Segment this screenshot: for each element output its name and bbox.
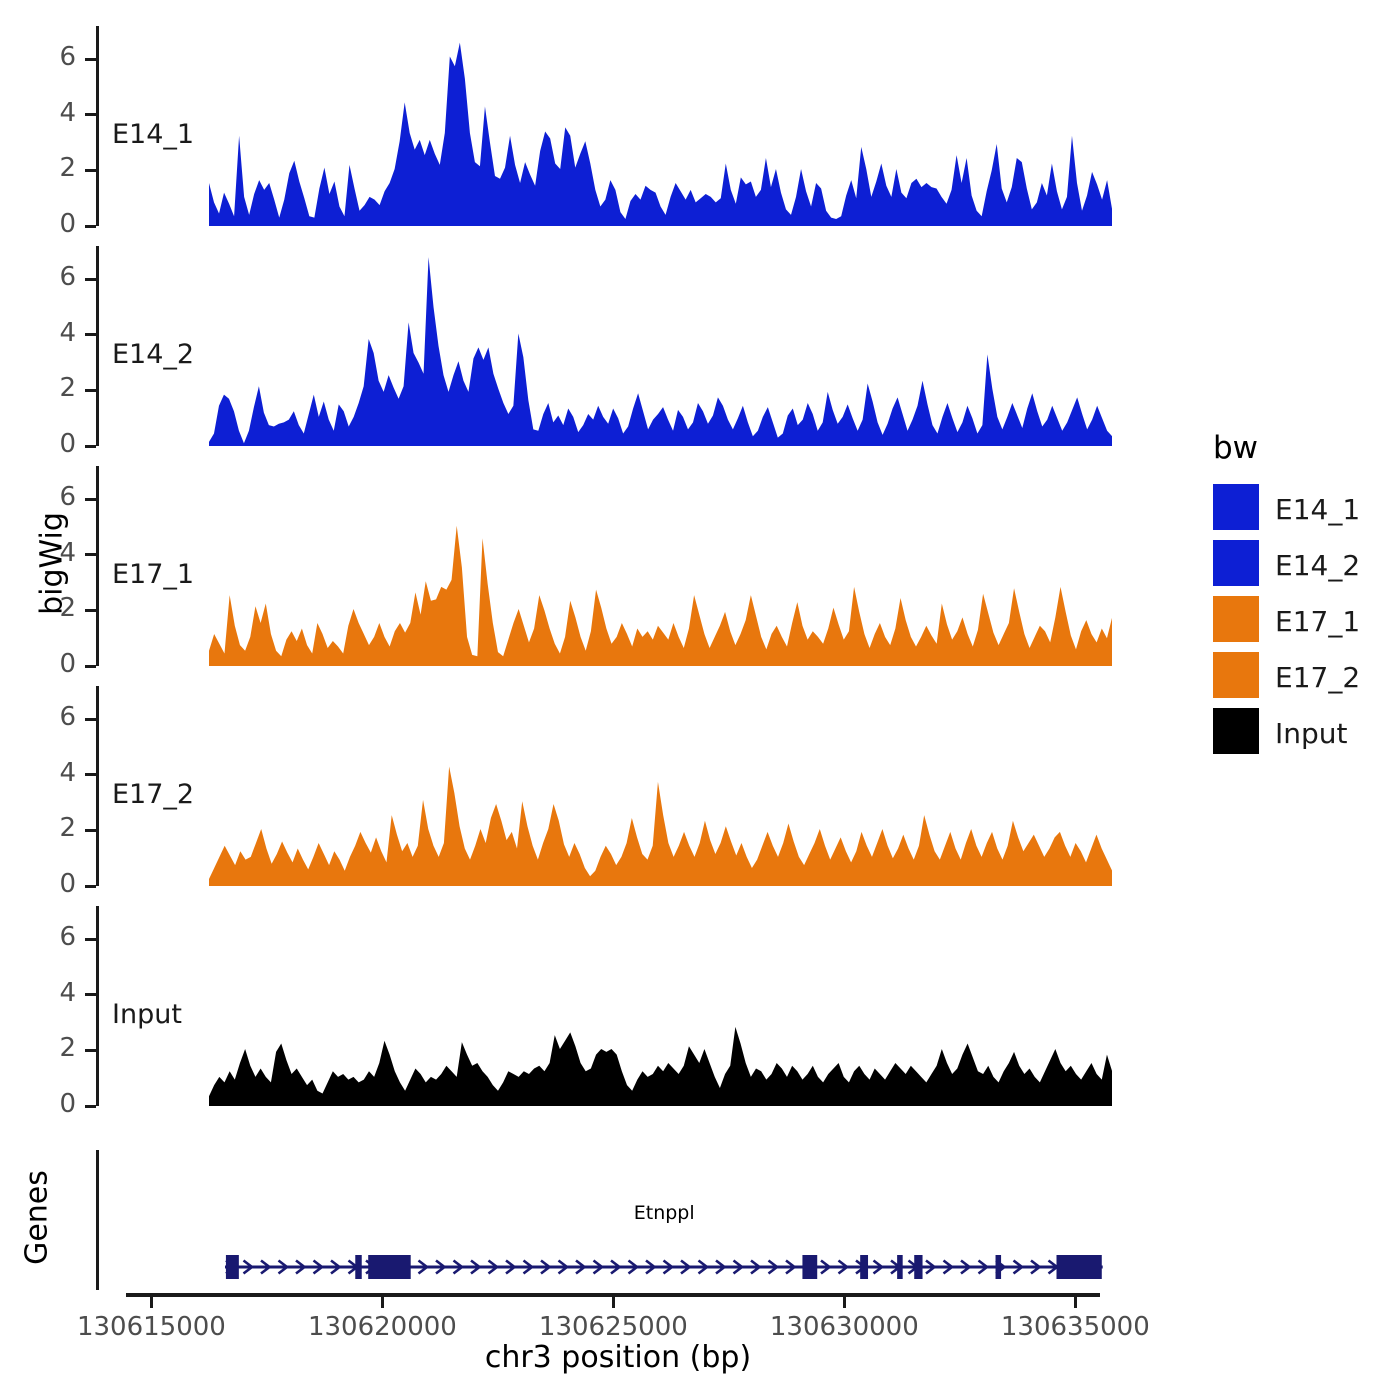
y-tick: [85, 113, 96, 116]
y-tick: [85, 1049, 96, 1052]
legend-label-e14_2: E14_2: [1275, 549, 1360, 582]
y-tick: [85, 445, 96, 448]
legend-swatch-e14_1[interactable]: [1213, 484, 1259, 530]
y-tick: [85, 938, 96, 941]
y-tick: [85, 169, 96, 172]
panel-y-axis-line: [96, 686, 99, 886]
y-tick: [85, 553, 96, 556]
genes-axis-title: Genes: [20, 1143, 55, 1293]
x-tick: [150, 1297, 153, 1308]
y-tick: [85, 993, 96, 996]
x-tick: [843, 1297, 846, 1308]
x-tick: [381, 1297, 384, 1308]
y-tick: [85, 665, 96, 668]
y-tick-label: 0: [6, 429, 76, 459]
gene-panel-axis-line: [96, 1150, 99, 1290]
y-tick-label: 0: [6, 869, 76, 899]
x-tick-label: 130630000: [734, 1312, 954, 1342]
legend-swatch-e17_1[interactable]: [1213, 596, 1259, 642]
y-tick-label: 4: [6, 538, 76, 568]
x-tick-label: 130620000: [272, 1312, 492, 1342]
panel-y-axis-line: [96, 906, 99, 1106]
x-tick: [1074, 1297, 1077, 1308]
y-tick: [85, 609, 96, 612]
track-label-input: Input: [112, 999, 182, 1030]
legend-label-e17_1: E17_1: [1275, 605, 1360, 638]
y-tick: [85, 58, 96, 61]
legend-label-e17_2: E17_2: [1275, 661, 1360, 694]
y-tick-label: 4: [6, 978, 76, 1008]
gene-name-label: Etnppl: [544, 1202, 784, 1224]
x-tick-label: 130615000: [41, 1312, 261, 1342]
y-tick: [85, 885, 96, 888]
coverage-area-e17_1: [209, 466, 1112, 666]
legend-swatch-e14_2[interactable]: [1213, 540, 1259, 586]
x-tick: [612, 1297, 615, 1308]
coverage-area-input: [209, 906, 1112, 1106]
track-label-e14_2: E14_2: [112, 339, 194, 370]
x-tick-label: 130635000: [965, 1312, 1185, 1342]
y-tick: [85, 333, 96, 336]
coverage-area-e14_2: [209, 246, 1112, 446]
y-tick-label: 4: [6, 318, 76, 348]
y-tick-label: 6: [6, 482, 76, 512]
y-tick-label: 0: [6, 209, 76, 239]
y-tick-label: 4: [6, 758, 76, 788]
legend-title: bw: [1213, 430, 1258, 466]
gene-model-etnppl[interactable]: [218, 1250, 1110, 1284]
y-tick-label: 2: [6, 813, 76, 843]
panel-y-axis-line: [96, 246, 99, 446]
panel-y-axis-line: [96, 26, 99, 226]
y-tick: [85, 718, 96, 721]
coverage-area-e14_1: [209, 26, 1112, 226]
track-label-e14_1: E14_1: [112, 119, 194, 150]
panel-y-axis-line: [96, 466, 99, 666]
y-tick-label: 2: [6, 153, 76, 183]
y-tick: [85, 1105, 96, 1108]
legend-swatch-e17_2[interactable]: [1213, 652, 1259, 698]
coverage-area-e17_2: [209, 686, 1112, 886]
y-tick-label: 0: [6, 649, 76, 679]
legend-label-e14_1: E14_1: [1275, 493, 1360, 526]
y-tick: [85, 773, 96, 776]
y-tick-label: 6: [6, 42, 76, 72]
y-tick: [85, 225, 96, 228]
legend-swatch-input[interactable]: [1213, 708, 1259, 754]
x-axis-title: chr3 position (bp): [96, 1340, 1140, 1375]
y-tick-label: 6: [6, 262, 76, 292]
y-tick-label: 4: [6, 98, 76, 128]
y-tick: [85, 829, 96, 832]
y-tick-label: 6: [6, 922, 76, 952]
y-tick-label: 2: [6, 1033, 76, 1063]
legend-label-input: Input: [1275, 717, 1348, 750]
y-tick-label: 0: [6, 1089, 76, 1119]
y-tick: [85, 498, 96, 501]
y-tick-label: 2: [6, 593, 76, 623]
track-label-e17_1: E17_1: [112, 559, 194, 590]
y-tick: [85, 389, 96, 392]
track-label-e17_2: E17_2: [112, 779, 194, 810]
x-tick-label: 130625000: [503, 1312, 723, 1342]
y-tick-label: 2: [6, 373, 76, 403]
y-tick: [85, 278, 96, 281]
y-tick-label: 6: [6, 702, 76, 732]
